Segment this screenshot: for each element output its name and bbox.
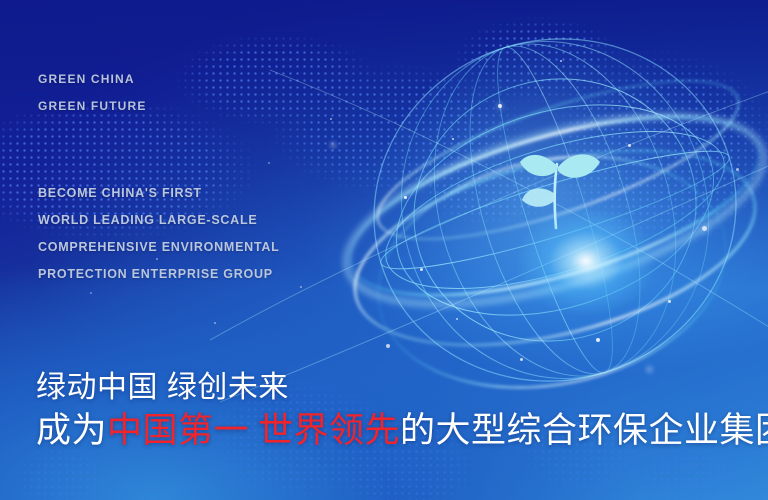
headline-suffix: 的大型综合环保企业集团	[400, 411, 768, 450]
slogan-en-top: GREEN CHINA GREEN FUTURE	[38, 66, 146, 120]
headline-line-1: 绿动中国 绿创未来	[36, 368, 768, 408]
particle	[268, 162, 270, 164]
banner-hero: GREEN CHINA GREEN FUTURE BECOME CHINA'S …	[0, 0, 768, 500]
particle	[452, 138, 454, 140]
particle	[214, 322, 216, 324]
headline-highlight-a: 中国第一	[107, 411, 249, 450]
core-light-burst	[516, 206, 656, 316]
particle	[596, 338, 600, 342]
particle	[420, 268, 423, 271]
particle	[628, 144, 631, 147]
particle	[330, 142, 336, 148]
particle	[520, 358, 523, 361]
particle	[702, 226, 707, 231]
particle	[404, 196, 407, 199]
slogan-line: GREEN FUTURE	[38, 93, 146, 120]
particle	[330, 118, 332, 120]
particle	[456, 318, 458, 320]
headline-highlight-b: 世界领先	[258, 411, 400, 450]
particle	[386, 344, 390, 348]
slogan-line: COMPREHENSIVE ENVIRONMENTAL	[38, 234, 280, 261]
slogan-line: WORLD LEADING LARGE-SCALE	[38, 207, 280, 234]
particle	[736, 168, 739, 171]
headline-cn: 绿动中国 绿创未来 成为中国第一世界领先的大型综合环保企业集团	[36, 368, 768, 454]
headline-line-2: 成为中国第一世界领先的大型综合环保企业集团	[36, 408, 768, 454]
particle	[560, 60, 562, 62]
slogan-en-body: BECOME CHINA'S FIRST WORLD LEADING LARGE…	[38, 180, 280, 288]
slogan-line: GREEN CHINA	[38, 66, 146, 93]
slogan-line: BECOME CHINA'S FIRST	[38, 180, 280, 207]
particle	[90, 292, 92, 294]
particle	[668, 300, 671, 303]
particle	[300, 286, 302, 288]
headline-prefix: 成为	[36, 411, 107, 450]
particle	[498, 104, 502, 108]
slogan-line: PROTECTION ENTERPRISE GROUP	[38, 261, 280, 288]
